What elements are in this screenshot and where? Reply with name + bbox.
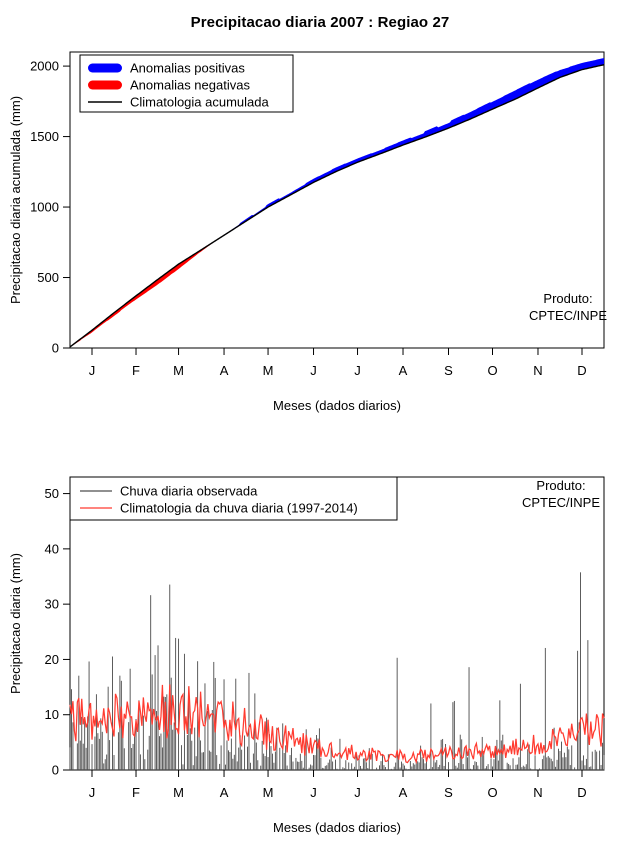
x-axis-tick-label: J	[89, 363, 96, 378]
page-title: Precipitacao diaria 2007 : Regiao 27	[0, 14, 640, 31]
daily-bar	[485, 768, 486, 770]
daily-bar	[492, 766, 493, 770]
legend-label: Climatologia acumulada	[130, 95, 270, 110]
daily-bar	[322, 768, 323, 770]
daily-bar	[571, 745, 572, 770]
daily-bar	[118, 732, 119, 770]
daily-bar	[297, 762, 298, 770]
daily-bar	[335, 760, 336, 770]
y-axis-tick-label: 40	[45, 541, 59, 556]
daily-bar	[200, 740, 201, 770]
daily-bar	[94, 737, 95, 770]
daily-bar	[301, 761, 302, 770]
daily-bar	[565, 757, 566, 770]
daily-bar	[298, 762, 299, 770]
daily-bar	[530, 769, 531, 770]
daily-bar	[580, 572, 581, 770]
daily-bar	[191, 741, 192, 770]
daily-bar	[97, 733, 98, 770]
daily-bar	[174, 723, 175, 771]
daily-bar	[253, 754, 254, 770]
daily-bar	[458, 763, 459, 770]
daily-bar	[426, 760, 427, 770]
y-axis-tick-label: 2000	[30, 59, 59, 74]
x-axis-tick-label: D	[577, 785, 586, 800]
daily-bar	[590, 767, 591, 771]
daily-bar	[147, 750, 148, 770]
daily-bar	[595, 750, 596, 770]
x-axis-tick-label: J	[310, 785, 317, 800]
daily-bar	[543, 756, 544, 770]
daily-bar	[83, 744, 84, 770]
daily-bar	[602, 743, 603, 770]
daily-bar	[473, 765, 474, 770]
daily-bar	[209, 751, 210, 770]
daily-bar	[477, 766, 478, 770]
daily-bar	[455, 766, 456, 770]
daily-bar	[526, 764, 527, 770]
daily-bar	[518, 757, 519, 770]
daily-bar	[272, 754, 273, 770]
daily-bar	[202, 753, 203, 770]
daily-bar	[128, 722, 129, 770]
daily-bar	[470, 769, 471, 770]
x-axis-tick-label: J	[354, 363, 361, 378]
x-axis-tick-label: A	[399, 785, 408, 800]
daily-bar	[71, 689, 72, 770]
daily-bar	[411, 766, 412, 770]
daily-bar	[604, 755, 605, 770]
daily-bar	[169, 585, 170, 770]
daily-bar	[293, 762, 294, 770]
daily-bar	[527, 749, 528, 770]
daily-bar	[558, 749, 559, 770]
daily-bar	[510, 765, 511, 770]
daily-bar	[130, 669, 131, 770]
y-axis-tick-label: 0	[52, 763, 59, 778]
legend-label: Anomalias positivas	[130, 61, 245, 76]
daily-bar	[221, 745, 222, 770]
x-axis-label: Meses (dados diarios)	[273, 820, 401, 835]
daily-bar	[159, 736, 160, 770]
daily-chart-svg: 01020304050Precipitacao diaria (mm)JFMAM…	[0, 430, 640, 850]
y-axis-tick-label: 1000	[30, 200, 59, 215]
daily-bar	[557, 760, 558, 770]
daily-bar	[241, 750, 242, 770]
legend-label: Anomalias negativas	[130, 78, 250, 93]
daily-bar	[257, 760, 258, 770]
daily-bar	[413, 763, 414, 770]
daily-bar	[361, 768, 362, 770]
daily-bar	[395, 763, 396, 770]
x-axis-tick-label: J	[310, 363, 317, 378]
daily-bar	[438, 767, 439, 770]
daily-bar	[523, 766, 524, 770]
daily-bar	[229, 752, 230, 770]
daily-bar	[410, 761, 411, 770]
daily-bar	[249, 673, 250, 770]
daily-bar	[149, 736, 150, 770]
daily-bar	[521, 767, 522, 770]
daily-bar	[284, 753, 285, 770]
daily-bar	[376, 768, 377, 770]
daily-bar	[432, 767, 433, 770]
daily-bar	[81, 717, 82, 770]
daily-bar	[524, 767, 525, 770]
daily-bar	[114, 755, 115, 770]
daily-bar	[555, 767, 556, 770]
daily-bar	[328, 763, 329, 770]
x-axis-tick-label: F	[132, 363, 140, 378]
daily-bar	[315, 755, 316, 770]
daily-bar	[586, 759, 587, 770]
observed-daily-bars	[70, 572, 605, 770]
daily-bar	[444, 766, 445, 770]
daily-bar	[344, 768, 345, 770]
accumulated-precipitation-panel: Precipitacao diaria 2007 : Regiao 27 050…	[0, 0, 640, 430]
x-axis-tick-label: M	[173, 363, 184, 378]
daily-bar	[237, 761, 238, 770]
daily-bar	[423, 759, 424, 770]
x-axis-tick-label: D	[577, 363, 586, 378]
daily-bar	[488, 764, 489, 770]
daily-bar	[337, 769, 338, 770]
daily-bar	[542, 759, 543, 770]
daily-bar	[382, 755, 383, 770]
daily-bar	[476, 762, 477, 770]
daily-bar	[436, 760, 437, 770]
daily-bar	[172, 730, 173, 770]
daily-bar	[231, 739, 232, 770]
daily-bar	[587, 640, 588, 770]
daily-bar	[498, 761, 499, 770]
daily-bar	[291, 748, 292, 770]
daily-bar	[133, 744, 134, 770]
daily-bar	[332, 762, 333, 770]
daily-bar	[323, 768, 324, 770]
daily-bar	[486, 766, 487, 770]
x-axis-label: Meses (dados diarios)	[273, 398, 401, 413]
y-axis-tick-label: 10	[45, 707, 59, 722]
daily-bar	[162, 747, 163, 770]
daily-bar	[574, 767, 575, 770]
produto-label-line2: CPTEC/INPE	[529, 308, 607, 323]
legend-label: Chuva diaria observada	[120, 484, 258, 499]
daily-bar	[290, 755, 291, 770]
daily-bar	[219, 764, 220, 770]
daily-bar	[70, 747, 71, 770]
daily-bar	[158, 645, 159, 770]
daily-bar	[144, 759, 145, 770]
daily-bar	[312, 765, 313, 770]
y-axis-tick-label: 500	[37, 270, 59, 285]
daily-bar	[275, 752, 276, 770]
daily-bar	[448, 762, 449, 770]
daily-precipitation-panel: 01020304050Precipitacao diaria (mm)JFMAM…	[0, 430, 640, 850]
x-axis-tick-label: S	[444, 363, 453, 378]
daily-bar	[193, 765, 194, 770]
daily-bar	[364, 758, 365, 770]
daily-bar	[216, 755, 217, 770]
daily-bar	[295, 758, 296, 770]
legend-swatch-icon	[88, 81, 122, 90]
daily-bar	[417, 761, 418, 770]
daily-bar	[205, 683, 206, 770]
daily-bar	[408, 769, 409, 770]
daily-bar	[564, 753, 565, 770]
daily-bar	[501, 740, 502, 770]
daily-bar	[452, 702, 453, 770]
daily-bar	[454, 701, 455, 770]
daily-bar	[584, 765, 585, 770]
daily-bar	[419, 762, 420, 770]
daily-bar	[196, 756, 197, 770]
daily-bar	[385, 767, 386, 770]
daily-bar	[227, 740, 228, 770]
x-axis-tick-label: M	[263, 363, 274, 378]
x-axis-tick-label: N	[533, 785, 542, 800]
daily-bar	[345, 760, 346, 770]
daily-bar	[303, 768, 304, 770]
y-axis-label: Precipitacao diaria (mm)	[8, 553, 23, 694]
daily-bar	[348, 762, 349, 770]
daily-bar	[535, 755, 536, 770]
daily-bar	[244, 736, 245, 770]
daily-bar	[108, 687, 109, 770]
daily-bar	[232, 759, 233, 770]
daily-bar	[582, 761, 583, 770]
x-axis-tick-label: O	[487, 363, 497, 378]
daily-bar	[109, 740, 110, 770]
x-axis-tick-label: F	[132, 785, 140, 800]
daily-bar	[363, 759, 364, 770]
daily-bar	[441, 740, 442, 770]
daily-bar	[461, 739, 462, 770]
legend-swatch-icon	[88, 64, 122, 73]
x-axis-tick-label: O	[487, 785, 497, 800]
daily-bar	[439, 765, 440, 770]
daily-bar	[175, 638, 176, 770]
daily-bar	[561, 742, 562, 770]
daily-bar	[161, 734, 162, 770]
daily-bar	[72, 722, 73, 770]
daily-bar	[372, 754, 373, 770]
x-axis-tick-label: M	[173, 785, 184, 800]
daily-bar	[342, 767, 343, 770]
daily-bar	[391, 769, 392, 770]
daily-bar	[592, 752, 593, 770]
daily-bar	[102, 732, 103, 770]
daily-bar	[143, 716, 144, 770]
daily-bar	[583, 755, 584, 770]
daily-bar	[106, 755, 107, 770]
daily-bar	[316, 735, 317, 770]
daily-bar	[404, 766, 405, 770]
daily-bar	[394, 767, 395, 770]
x-axis-tick-label: S	[444, 785, 453, 800]
daily-bar	[238, 748, 239, 770]
daily-bar	[212, 710, 213, 770]
y-axis-tick-label: 20	[45, 652, 59, 667]
daily-bar	[268, 757, 269, 770]
x-axis-tick-label: A	[399, 363, 408, 378]
daily-bar	[273, 763, 274, 770]
daily-bar	[131, 748, 132, 770]
produto-label-line1: Produto:	[536, 478, 585, 493]
y-axis-label: Precipitacao diaria acumulada (mm)	[8, 96, 23, 304]
daily-bar	[367, 768, 368, 770]
daily-bar	[516, 765, 517, 770]
daily-bar	[285, 745, 286, 770]
daily-bar	[80, 741, 81, 770]
plot-frame	[70, 477, 604, 770]
daily-bar	[491, 759, 492, 770]
daily-bar	[320, 758, 321, 770]
daily-bar	[551, 759, 552, 770]
legend-label: Climatologia da chuva diaria (1997-2014)	[120, 501, 358, 516]
x-axis-tick-label: M	[263, 785, 274, 800]
daily-bar	[568, 749, 569, 770]
daily-bar	[513, 758, 514, 770]
daily-bar	[194, 728, 195, 770]
daily-bar	[150, 595, 151, 770]
chart-page: Precipitacao diaria 2007 : Regiao 27 050…	[0, 0, 640, 850]
daily-bar	[92, 744, 93, 770]
daily-climatology-line	[70, 684, 604, 762]
daily-bar	[601, 765, 602, 770]
y-axis-tick-label: 0	[52, 341, 59, 356]
daily-bar	[567, 747, 568, 770]
daily-bar	[100, 718, 101, 770]
daily-bar	[552, 761, 553, 770]
daily-bar	[596, 752, 597, 770]
daily-bar	[474, 761, 475, 770]
daily-bar	[381, 761, 382, 770]
daily-bar	[178, 639, 179, 770]
daily-bar	[560, 751, 561, 770]
daily-bar	[271, 746, 272, 770]
daily-bar	[124, 748, 125, 770]
daily-bar	[134, 736, 135, 770]
negative-anomaly-area	[70, 238, 220, 347]
daily-bar	[379, 765, 380, 770]
daily-bar	[366, 762, 367, 770]
daily-bar	[469, 667, 470, 770]
daily-bar	[190, 728, 191, 770]
daily-bar	[140, 754, 141, 770]
daily-bar	[325, 766, 326, 770]
daily-bar	[300, 754, 301, 770]
daily-bar	[351, 763, 352, 770]
daily-bar	[548, 756, 549, 770]
daily-bar	[383, 765, 384, 770]
daily-bar	[562, 757, 563, 770]
daily-bar	[309, 768, 310, 770]
daily-bar	[400, 768, 401, 770]
daily-bar	[210, 752, 211, 770]
produto-label-line2: CPTEC/INPE	[522, 495, 600, 510]
daily-bar	[262, 741, 263, 770]
x-axis-tick-label: A	[220, 785, 229, 800]
daily-bar	[508, 764, 509, 770]
daily-bar	[422, 757, 423, 770]
daily-bar	[225, 765, 226, 770]
daily-bar	[539, 768, 540, 770]
daily-bar	[187, 735, 188, 770]
daily-bar	[203, 752, 204, 770]
y-axis-tick-label: 50	[45, 486, 59, 501]
daily-bar	[549, 758, 550, 770]
daily-bar	[414, 765, 415, 770]
daily-bar	[77, 743, 78, 770]
daily-bar	[546, 757, 547, 770]
daily-bar	[86, 748, 87, 770]
daily-bar	[310, 765, 311, 770]
daily-bar	[354, 767, 355, 770]
daily-bar	[457, 768, 458, 770]
y-axis-tick-label: 30	[45, 597, 59, 612]
daily-bar	[228, 750, 229, 770]
daily-bar	[207, 711, 208, 770]
daily-bar	[401, 762, 402, 770]
y-axis-tick-label: 1500	[30, 129, 59, 144]
daily-bar	[406, 769, 407, 770]
daily-bar	[353, 769, 354, 770]
daily-bar	[425, 763, 426, 770]
daily-bar	[250, 763, 251, 770]
daily-bar	[313, 755, 314, 770]
daily-bar	[96, 694, 97, 770]
daily-bar	[499, 700, 500, 770]
legend-item[interactable]: Climatologia da chuva diaria (1997-2014)	[80, 501, 358, 516]
daily-bar	[599, 751, 600, 770]
produto-label-line1: Produto:	[543, 291, 592, 306]
daily-bar	[435, 762, 436, 770]
daily-bar	[589, 767, 590, 770]
daily-bar	[403, 764, 404, 770]
daily-bar	[112, 657, 113, 771]
daily-bar	[103, 763, 104, 770]
daily-bar	[360, 766, 361, 770]
daily-bar	[494, 759, 495, 770]
daily-bar	[78, 676, 79, 770]
daily-bar	[429, 769, 430, 770]
daily-bar	[247, 747, 248, 770]
daily-bar	[463, 764, 464, 770]
x-axis-tick-label: J	[354, 785, 361, 800]
x-axis-tick-label: N	[533, 363, 542, 378]
daily-bar	[260, 766, 261, 770]
daily-bar	[326, 765, 327, 770]
daily-bar	[99, 739, 100, 770]
daily-bar	[430, 703, 431, 770]
x-axis-tick-label: J	[89, 785, 96, 800]
daily-bar	[263, 754, 264, 770]
daily-bar	[287, 766, 288, 770]
daily-bar	[181, 745, 182, 770]
daily-bar	[507, 763, 508, 770]
daily-bar	[279, 748, 280, 770]
daily-bar	[517, 765, 518, 770]
x-axis-tick-label: A	[220, 363, 229, 378]
daily-bar	[256, 743, 257, 770]
daily-bar	[84, 719, 85, 770]
daily-bar	[329, 760, 330, 770]
daily-bar	[183, 764, 184, 770]
daily-bar	[577, 651, 578, 770]
accumulated-chart-svg: 0500100015002000Precipitacao diaria acum…	[0, 0, 640, 430]
daily-bar	[520, 684, 521, 770]
